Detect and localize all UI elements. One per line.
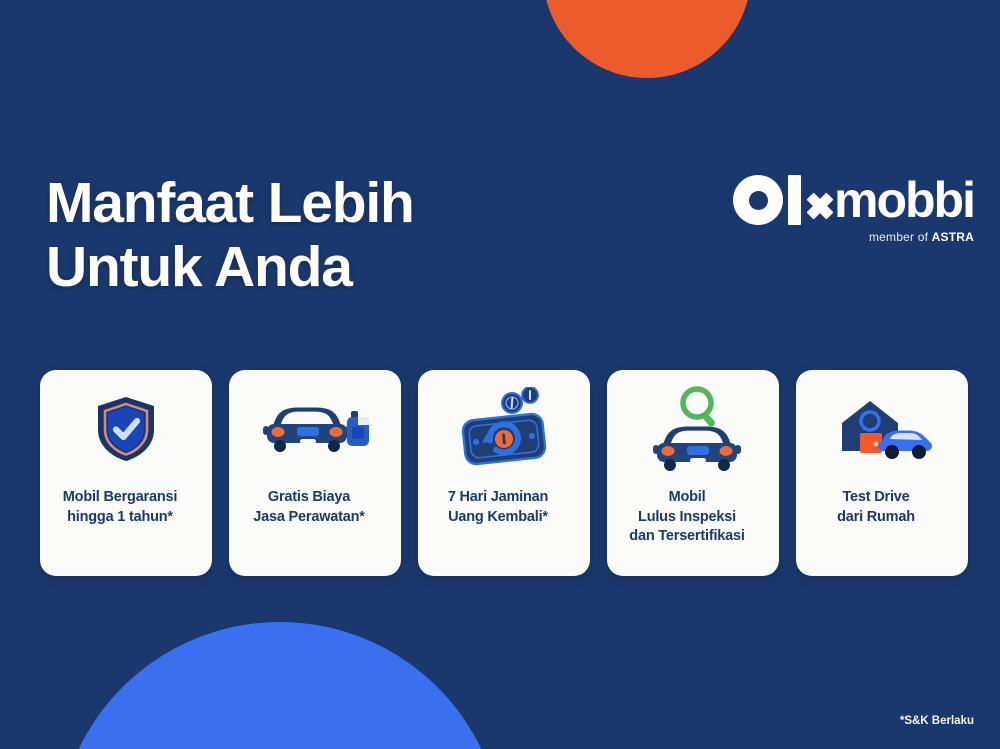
headline-line-2: Untuk Anda (46, 236, 414, 300)
benefit-card-label: Mobil Lulus Inspeksi dan Tersertifikasi (589, 488, 785, 547)
benefit-card-free-service[interactable]: Gratis Biaya Jasa Perawatan* (229, 370, 401, 576)
logo-wordmark: mobbi (834, 175, 974, 225)
benefit-card-warranty[interactable]: Mobil Bergaransi hingga 1 tahun* (40, 370, 212, 576)
headline-line-1: Manfaat Lebih (46, 172, 414, 236)
poster-canvas: Manfaat Lebih Untuk Anda mobbi member of… (0, 0, 1000, 749)
benefit-card-label: 7 Hari Jaminan Uang Kembali* (400, 488, 596, 527)
benefit-card-home-test-drive[interactable]: Test Drive dari Rumah (796, 370, 968, 576)
benefit-label-line: Mobil (589, 488, 785, 508)
benefit-label-line: Mobil Bergaransi (22, 488, 218, 508)
money-back-icon (418, 370, 590, 488)
logo-letter-l-icon (788, 175, 801, 225)
shield-check-icon (40, 370, 212, 488)
terms-footnote: *S&K Berlaku (900, 715, 974, 727)
benefit-card-label: Gratis Biaya Jasa Perawatan* (211, 488, 407, 527)
benefit-label-line: dan Tersertifikasi (589, 527, 785, 547)
logo-tagline-brand: ASTRA (932, 230, 974, 244)
benefit-label-line: Jasa Perawatan* (211, 508, 407, 528)
car-inspection-magnifier-icon (607, 370, 779, 488)
benefit-label-line: hingga 1 tahun* (22, 508, 218, 528)
benefit-card-money-back[interactable]: 7 Hari Jaminan Uang Kembali* (418, 370, 590, 576)
benefits-card-row: Mobil Bergaransi hingga 1 tahun* (40, 370, 968, 576)
benefit-label-line: 7 Hari Jaminan (400, 488, 596, 508)
page-title: Manfaat Lebih Untuk Anda (46, 172, 414, 300)
benefit-label-line: Gratis Biaya (211, 488, 407, 508)
benefit-card-label: Mobil Bergaransi hingga 1 tahun* (22, 488, 218, 527)
benefit-label-line: dari Rumah (778, 508, 974, 528)
logo-mark: mobbi (733, 174, 974, 226)
benefit-label-line: Uang Kembali* (400, 508, 596, 528)
benefit-label-line: Test Drive (778, 488, 974, 508)
benefit-card-label: Test Drive dari Rumah (778, 488, 974, 527)
blue-circle-decoration (57, 622, 503, 749)
logo-tagline-prefix: member of (869, 230, 932, 244)
home-test-drive-icon (796, 370, 968, 488)
logo-tagline: member of ASTRA (733, 230, 974, 244)
olxmobbi-logo: mobbi member of ASTRA (733, 174, 974, 244)
benefit-label-line: Lulus Inspeksi (589, 508, 785, 528)
benefit-card-inspection[interactable]: Mobil Lulus Inspeksi dan Tersertifikasi (607, 370, 779, 576)
logo-letter-o-icon (733, 175, 783, 225)
orange-circle-decoration (543, 0, 751, 78)
logo-letter-x-icon (804, 187, 834, 221)
car-oil-service-icon (229, 370, 401, 488)
